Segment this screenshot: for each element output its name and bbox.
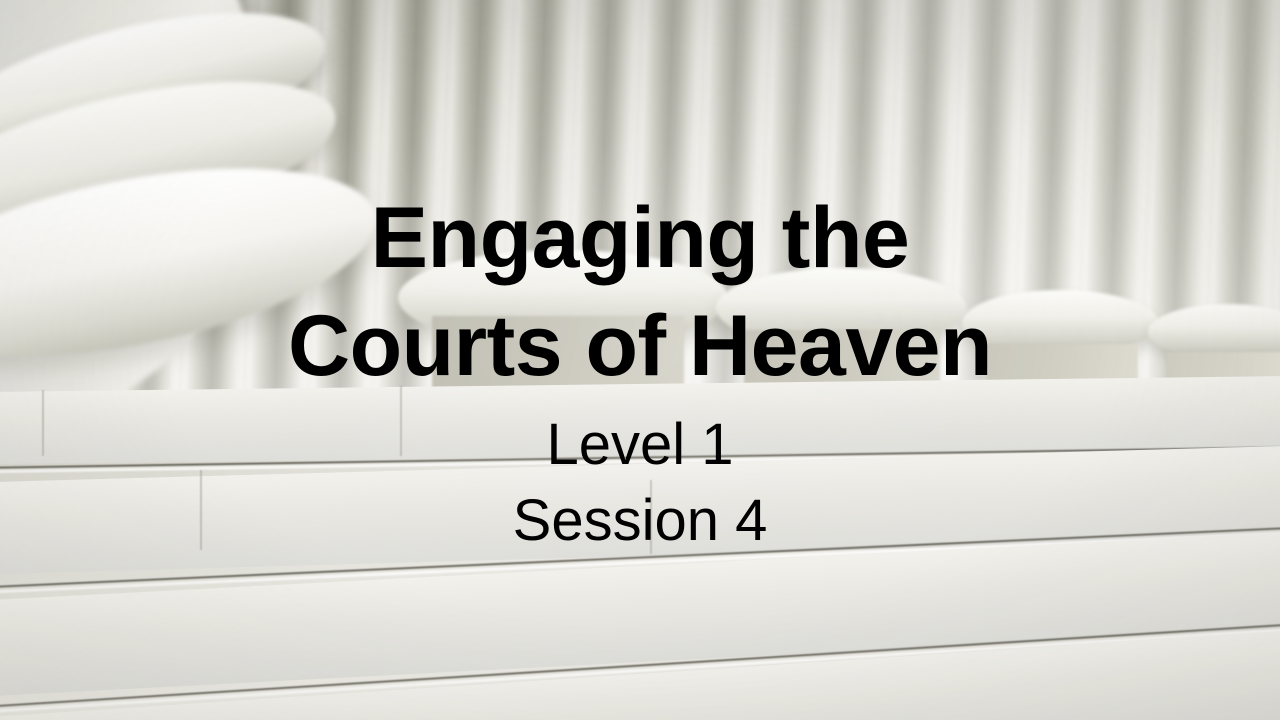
background-photo xyxy=(0,0,1280,720)
stone-steps xyxy=(0,384,1280,720)
stone-block-joint xyxy=(650,480,652,554)
stone-block-joint xyxy=(200,470,202,550)
stone-block-joint xyxy=(400,386,402,456)
stone-block-joint xyxy=(42,390,44,456)
title-slide: Engaging the Courts of Heaven Level 1 Se… xyxy=(0,0,1280,720)
